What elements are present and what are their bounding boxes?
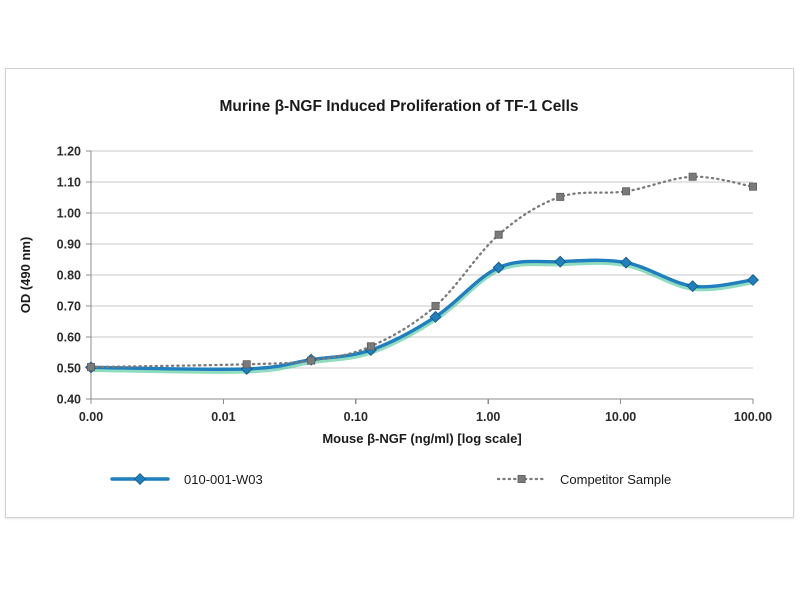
y-tick-label: 0.50 bbox=[57, 362, 81, 376]
x-tick-label: 0.10 bbox=[344, 410, 368, 424]
data-series-layer bbox=[86, 173, 759, 374]
y-tick-label: 0.40 bbox=[57, 393, 81, 407]
data-point-marker bbox=[87, 363, 94, 370]
y-tick-marks bbox=[86, 151, 91, 399]
x-tick-labels: 0.000.010.101.0010.00100.00 bbox=[79, 410, 772, 424]
chart-figure-frame: Murine β-NGF Induced Proliferation of TF… bbox=[5, 68, 794, 518]
y-tick-label: 0.80 bbox=[57, 269, 81, 283]
data-point-marker bbox=[495, 231, 502, 238]
x-tick-label: 10.00 bbox=[605, 410, 636, 424]
x-axis-title: Mouse β-NGF (ng/ml) [log scale] bbox=[322, 431, 521, 446]
data-point-marker bbox=[308, 357, 315, 364]
legend-marker-square bbox=[518, 475, 525, 482]
legend-item-1[interactable]: 010-001-W03 bbox=[112, 472, 263, 487]
y-tick-label: 1.10 bbox=[57, 176, 81, 190]
data-point-marker bbox=[243, 361, 250, 368]
y-tick-label: 0.90 bbox=[57, 238, 81, 252]
proliferation-line-chart: Murine β-NGF Induced Proliferation of TF… bbox=[6, 69, 793, 517]
legend-item-2[interactable]: Competitor Sample bbox=[498, 472, 671, 487]
data-point-marker bbox=[622, 188, 629, 195]
legend-label: Competitor Sample bbox=[560, 472, 671, 487]
y-axis-title: OD (490 nm) bbox=[18, 237, 33, 314]
legend-marker-diamond bbox=[135, 474, 146, 485]
data-point-marker bbox=[367, 343, 374, 350]
x-tick-label: 100.00 bbox=[734, 410, 772, 424]
legend-label: 010-001-W03 bbox=[184, 472, 263, 487]
y-tick-label: 0.70 bbox=[57, 300, 81, 314]
y-tick-label: 1.20 bbox=[57, 145, 81, 159]
data-point-marker bbox=[689, 173, 696, 180]
x-tick-label: 0.00 bbox=[79, 410, 103, 424]
y-tick-labels: 1.201.101.000.900.800.700.600.500.40 bbox=[57, 145, 81, 407]
data-point-marker bbox=[432, 302, 439, 309]
y-tick-label: 0.60 bbox=[57, 331, 81, 345]
x-tick-label: 1.00 bbox=[476, 410, 500, 424]
chart-title: Murine β-NGF Induced Proliferation of TF… bbox=[219, 98, 578, 115]
x-tick-marks bbox=[91, 399, 753, 404]
series-1 bbox=[86, 256, 759, 374]
chart-legend: 010-001-W03Competitor Sample bbox=[112, 472, 671, 487]
x-tick-label: 0.01 bbox=[211, 410, 235, 424]
data-point-marker bbox=[749, 183, 756, 190]
y-tick-label: 1.00 bbox=[57, 207, 81, 221]
data-point-marker bbox=[557, 193, 564, 200]
